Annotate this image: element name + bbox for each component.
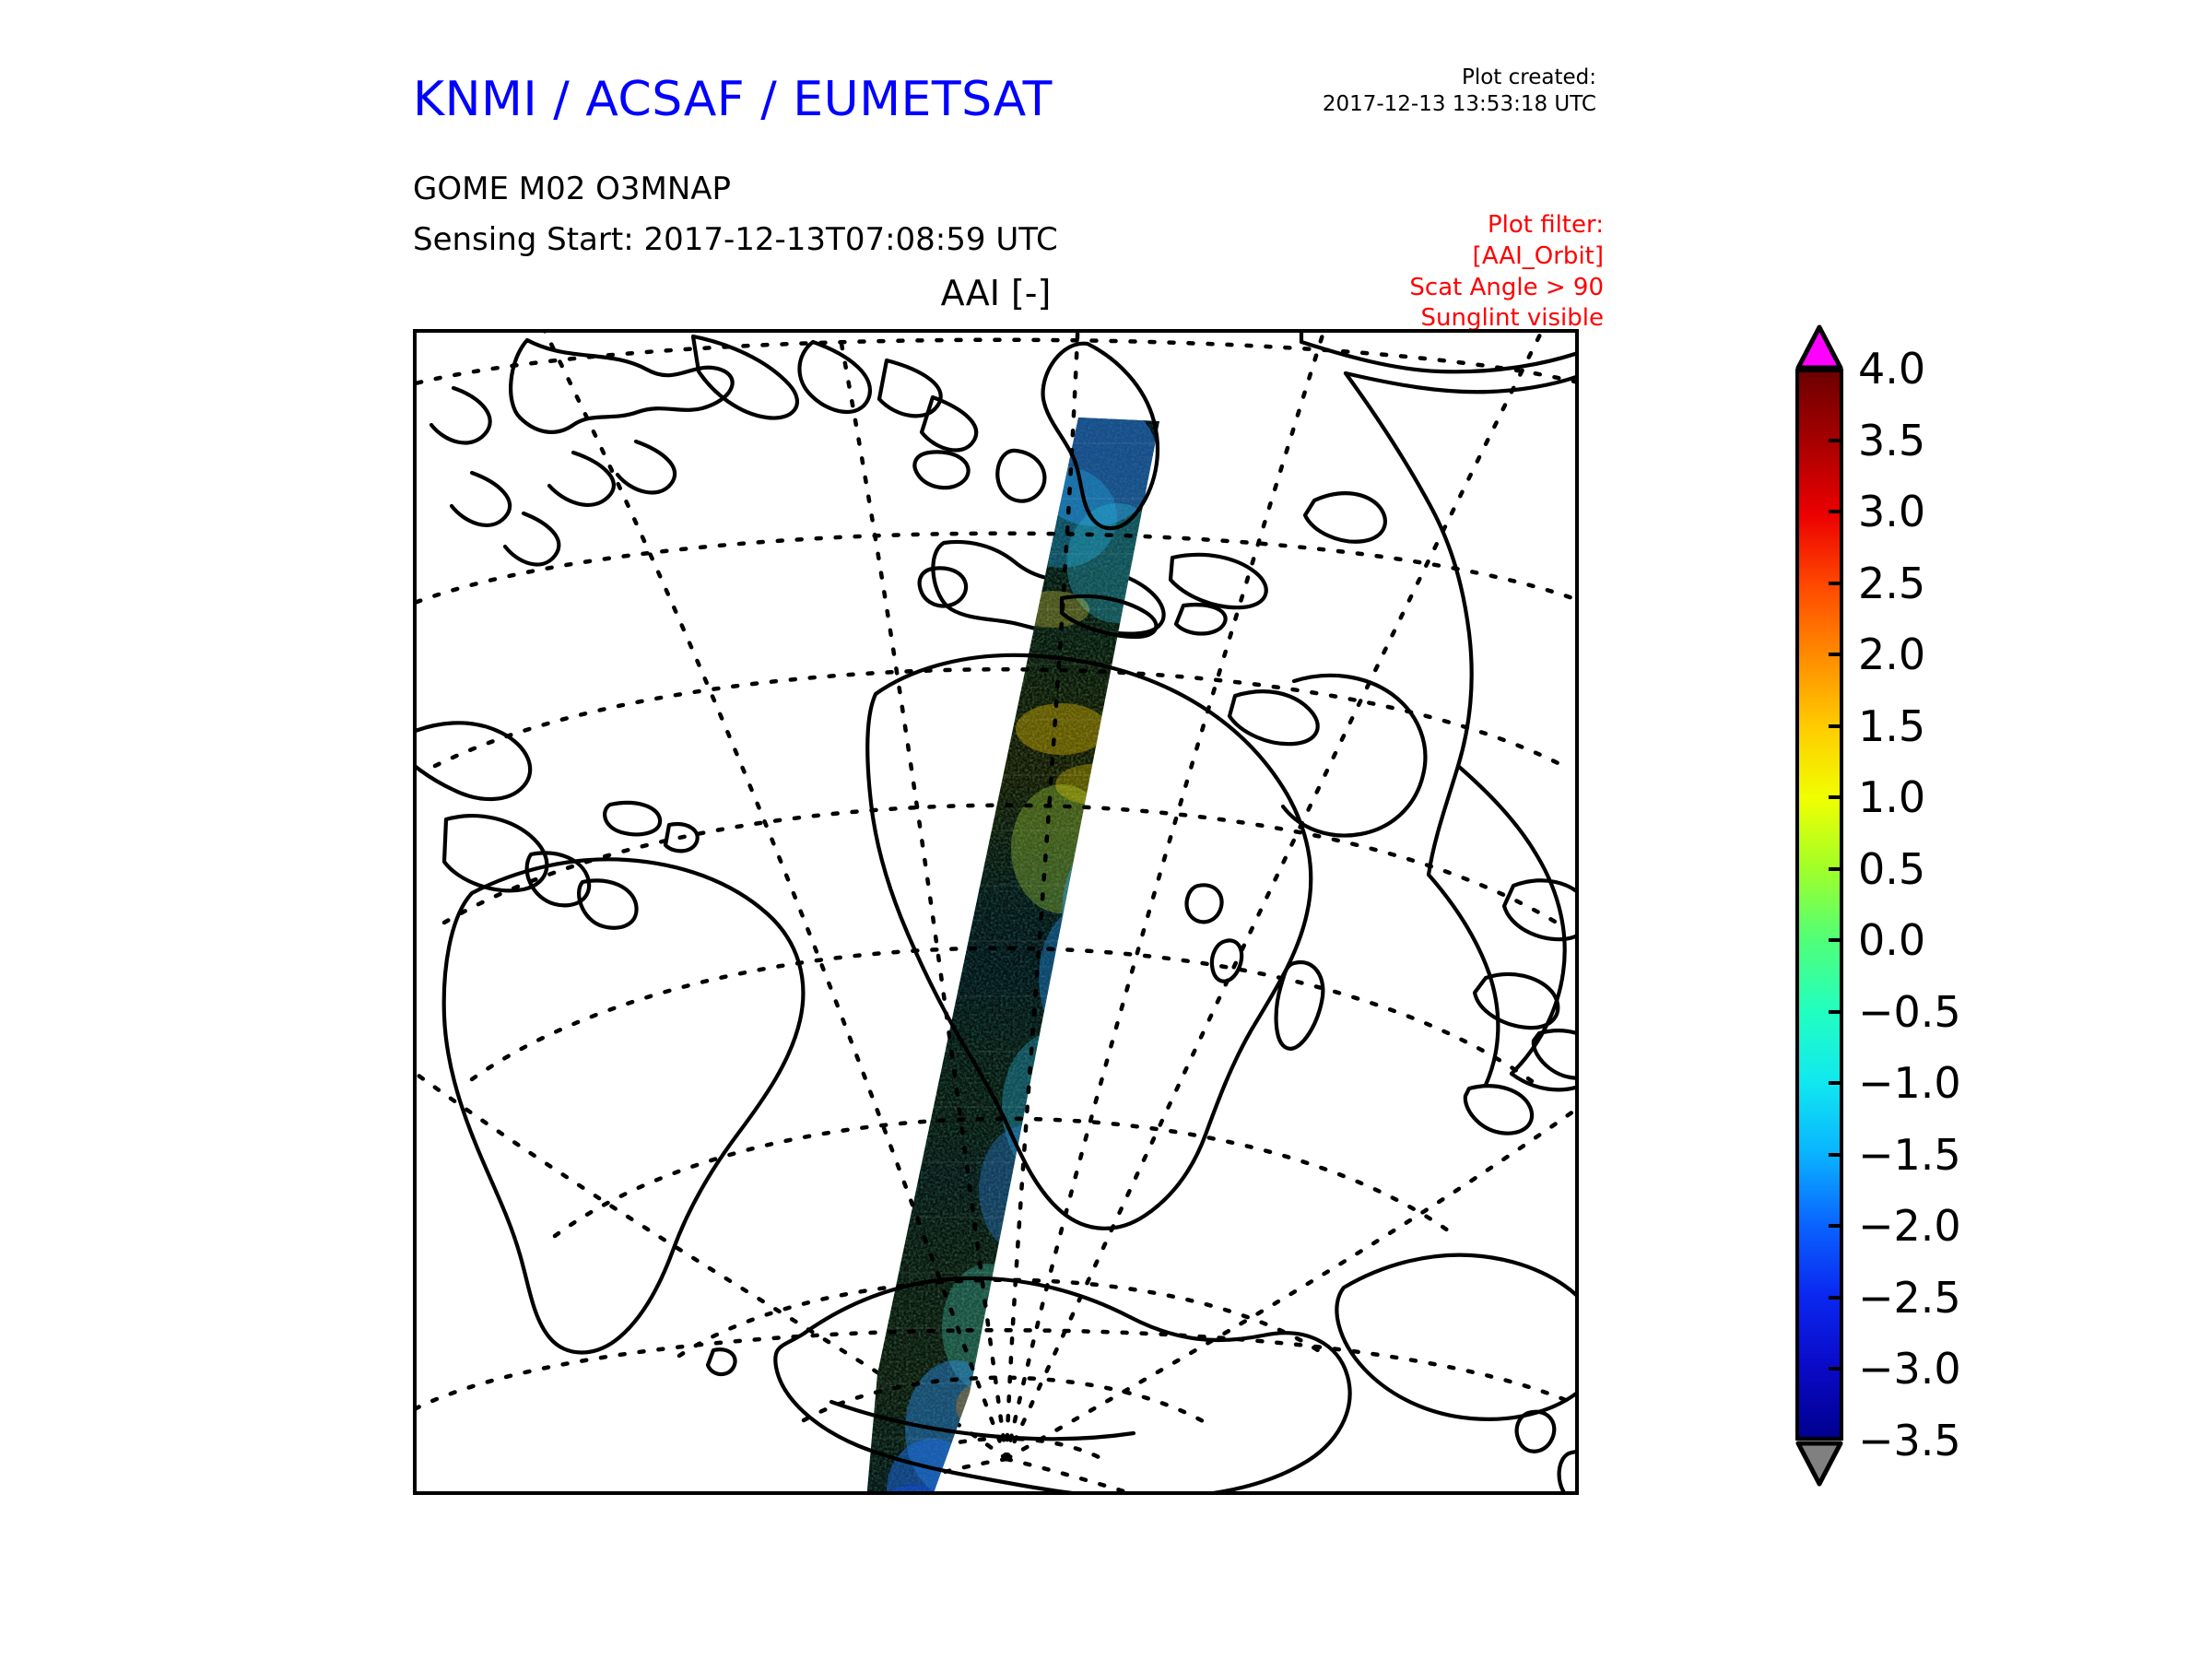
map-canvas: [417, 333, 1579, 1495]
colorbar-tick-label: 4.0: [1858, 347, 1925, 390]
colorbar-tick: [1829, 795, 1843, 799]
colorbar-tick: [1829, 938, 1843, 942]
colorbar-tick-label: −3.0: [1858, 1347, 1961, 1390]
colorbar-tick: [1829, 1153, 1843, 1157]
colorbar-tick-label: 2.0: [1858, 633, 1925, 676]
sensing-start: Sensing Start: 2017-12-13T07:08:59 UTC: [413, 221, 1058, 258]
colorbar-tick-label: 1.5: [1858, 705, 1925, 747]
colorbar-tick: [1829, 1081, 1843, 1085]
colorbar-tick-label: 0.5: [1858, 848, 1925, 890]
colorbar-tick: [1829, 1296, 1843, 1300]
product-name: GOME M02 O3MNAP: [413, 171, 731, 207]
brand-title: KNMI / ACSAF / EUMETSAT: [413, 72, 1053, 127]
colorbar-tick-label: 3.5: [1858, 419, 1925, 462]
colorbar-tick: [1829, 653, 1843, 656]
colorbar-tick: [1829, 582, 1843, 585]
colorbar-tick-label: 1.0: [1858, 776, 1925, 818]
colorbar-tick-label: −2.0: [1858, 1205, 1961, 1247]
plot-created-block: Plot created: 2017-12-13 13:53:18 UTC: [1323, 65, 1596, 119]
plot-filter-line-0: Plot filter:: [1409, 210, 1604, 241]
colorbar-tick-label: −1.0: [1858, 1062, 1961, 1104]
colorbar: 4.03.53.02.52.01.51.00.50.0−0.5−1.0−1.5−…: [1790, 324, 2177, 1523]
colorbar-tick-label: −1.5: [1858, 1134, 1961, 1176]
colorbar-tick: [1829, 1010, 1843, 1014]
colorbar-tick-label: −3.5: [1858, 1419, 1961, 1462]
colorbar-tick: [1829, 1367, 1843, 1371]
colorbar-gradient: [1795, 369, 1843, 1441]
plot-created-timestamp: 2017-12-13 13:53:18 UTC: [1323, 91, 1596, 118]
colorbar-over-arrow: [1795, 324, 1843, 369]
colorbar-tick-label: −2.5: [1858, 1277, 1961, 1319]
colorbar-tick-label: 3.0: [1858, 490, 1925, 533]
plot-filter-line-1: [AAI_Orbit]: [1409, 241, 1604, 273]
colorbar-tick: [1829, 867, 1843, 871]
page-title: AAI [-]: [413, 273, 1579, 313]
colorbar-tick-label: 2.5: [1858, 562, 1925, 605]
colorbar-tick: [1829, 1224, 1843, 1228]
colorbar-tick-label: −0.5: [1858, 991, 1961, 1033]
colorbar-tick-label: 0.0: [1858, 919, 1925, 961]
aai-swath: [417, 333, 1579, 1495]
colorbar-under-arrow: [1795, 1441, 1843, 1485]
plot-created-label: Plot created:: [1323, 65, 1596, 91]
map-plot-area: [413, 329, 1579, 1495]
colorbar-tick: [1829, 724, 1843, 728]
colorbar-tick: [1829, 439, 1843, 442]
colorbar-tick: [1829, 510, 1843, 513]
